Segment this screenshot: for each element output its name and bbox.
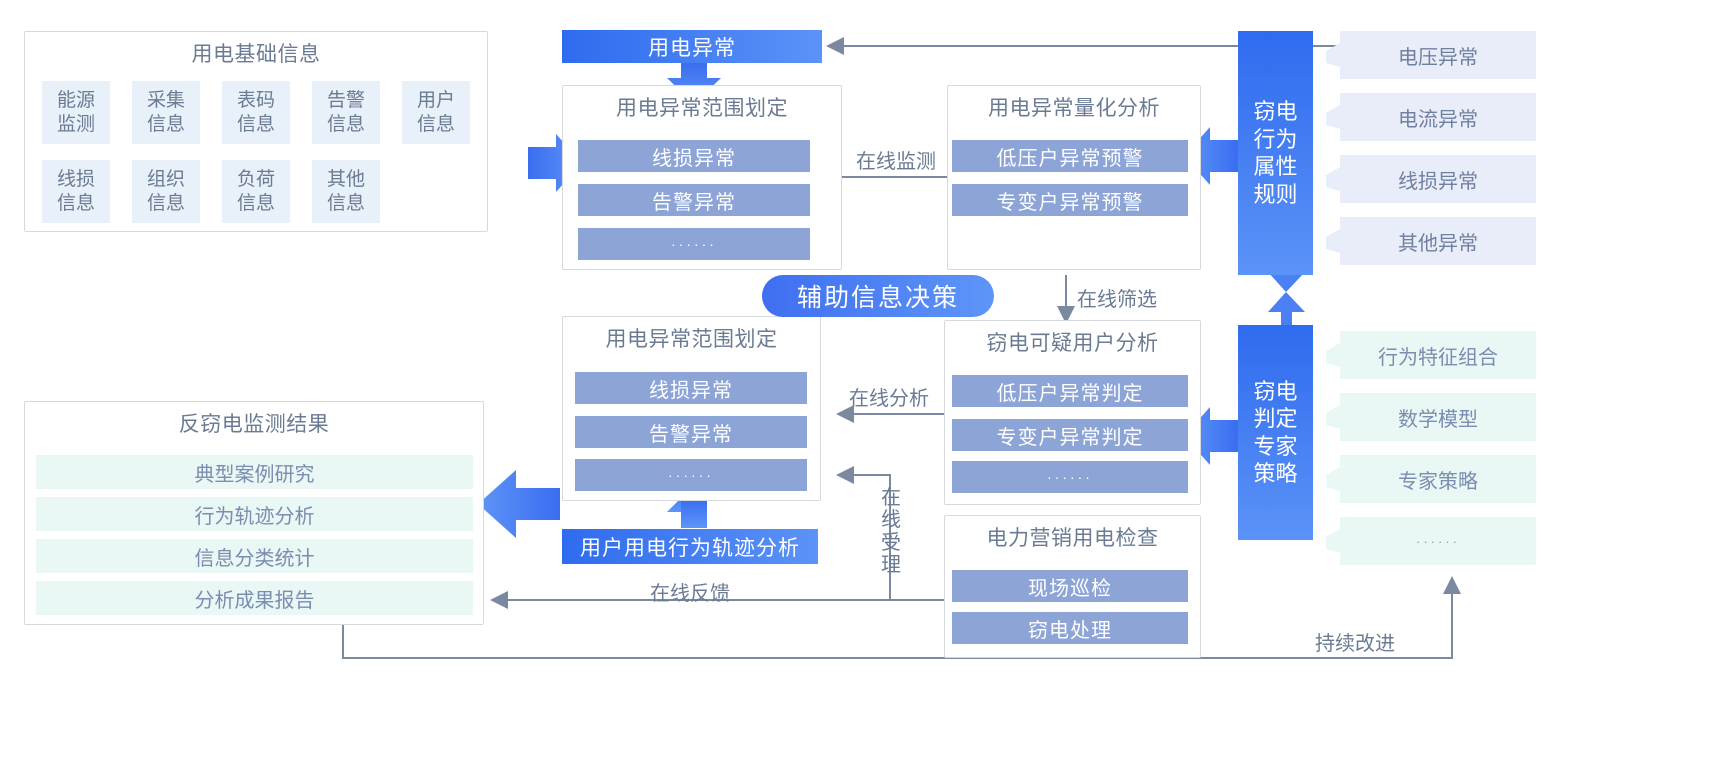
banner-power-anomaly[interactable]: 用电异常 (562, 30, 822, 63)
quantitative-item[interactable]: 专变户异常预警 (952, 184, 1188, 216)
label-online-monitor: 在线监测 (856, 145, 936, 174)
column-theft-expert-strategy[interactable]: 窃电判定专家策略 (1238, 325, 1313, 540)
basic-info-chip[interactable]: 其他信息 (312, 160, 380, 223)
basic-info-chip[interactable]: 采集信息 (132, 81, 200, 144)
scope-bottom-item[interactable]: ······ (575, 459, 807, 491)
column-theft-behavior-rules-label: 窃电行为属性规则 (1249, 98, 1302, 208)
suspect-item[interactable]: 专变户异常判定 (952, 419, 1188, 451)
card-scope-bottom-title: 用电异常范围划定 (563, 317, 820, 352)
strategy-item[interactable]: 专家策略 (1340, 455, 1536, 503)
diagram-canvas: 用电基础信息 能源监测 采集信息 表码信息 告警信息 用户信息 线损信息 组织信… (0, 0, 1731, 764)
label-online-filter: 在线筛选 (1077, 283, 1157, 312)
label-online-feedback: 在线反馈 (650, 577, 730, 606)
card-quantitative-title: 用电异常量化分析 (948, 86, 1200, 121)
label-online-accept: 在线受理 (880, 487, 902, 577)
inspection-item[interactable]: 现场巡检 (952, 570, 1188, 602)
card-basic-info-title: 用电基础信息 (25, 32, 487, 67)
scope-top-item[interactable]: 告警异常 (578, 184, 810, 216)
suspect-item[interactable]: 低压户异常判定 (952, 375, 1188, 407)
suspect-item[interactable]: ······ (952, 461, 1188, 493)
ellipsis-text: ······ (1416, 534, 1460, 549)
quantitative-item[interactable]: 低压户异常预警 (952, 140, 1188, 172)
result-item[interactable]: 信息分类统计 (36, 539, 473, 573)
rule-top-item[interactable]: 线损异常 (1340, 155, 1536, 203)
rule-top-item[interactable]: 电流异常 (1340, 93, 1536, 141)
card-quantitative: 用电异常量化分析 (947, 85, 1201, 270)
card-suspect-users-title: 窃电可疑用户分析 (945, 321, 1200, 356)
scope-top-item[interactable]: ······ (578, 228, 810, 260)
ellipsis-text: ······ (671, 236, 717, 252)
banner-behavior-track[interactable]: 用户用电行为轨迹分析 (562, 529, 818, 564)
label-online-analysis: 在线分析 (849, 382, 929, 411)
basic-info-chip[interactable]: 用户信息 (402, 81, 470, 144)
strategy-item[interactable]: 数学模型 (1340, 393, 1536, 441)
inspection-item[interactable]: 窃电处理 (952, 612, 1188, 644)
ellipsis-text: ······ (1047, 469, 1093, 485)
result-item[interactable]: 典型案例研究 (36, 455, 473, 489)
rule-top-item[interactable]: 电压异常 (1340, 31, 1536, 79)
result-item[interactable]: 行为轨迹分析 (36, 497, 473, 531)
scope-bottom-item[interactable]: 告警异常 (575, 416, 807, 448)
column-theft-behavior-rules[interactable]: 窃电行为属性规则 (1238, 31, 1313, 275)
basic-info-chip[interactable]: 告警信息 (312, 81, 380, 144)
strategy-item[interactable]: 行为特征组合 (1340, 331, 1536, 379)
column-theft-expert-strategy-label: 窃电判定专家策略 (1249, 378, 1302, 488)
ellipsis-text: ······ (668, 467, 714, 483)
label-continuous-improve: 持续改进 (1315, 627, 1395, 656)
pill-assist-decision[interactable]: 辅助信息决策 (762, 275, 994, 317)
basic-info-chip[interactable]: 负荷信息 (222, 160, 290, 223)
card-scope-top-title: 用电异常范围划定 (563, 86, 841, 121)
result-item[interactable]: 分析成果报告 (36, 581, 473, 615)
basic-info-chip[interactable]: 能源监测 (42, 81, 110, 144)
card-result-title: 反窃电监测结果 (25, 402, 483, 437)
basic-info-chip[interactable]: 表码信息 (222, 81, 290, 144)
basic-info-chip[interactable]: 线损信息 (42, 160, 110, 223)
card-marketing-inspection-title: 电力营销用电检查 (945, 516, 1200, 551)
scope-top-item[interactable]: 线损异常 (578, 140, 810, 172)
strategy-item[interactable]: ······ (1340, 517, 1536, 565)
rule-top-item[interactable]: 其他异常 (1340, 217, 1536, 265)
basic-info-chip[interactable]: 组织信息 (132, 160, 200, 223)
scope-bottom-item[interactable]: 线损异常 (575, 372, 807, 404)
label-online-accept-text: 在线受理 (881, 487, 901, 576)
